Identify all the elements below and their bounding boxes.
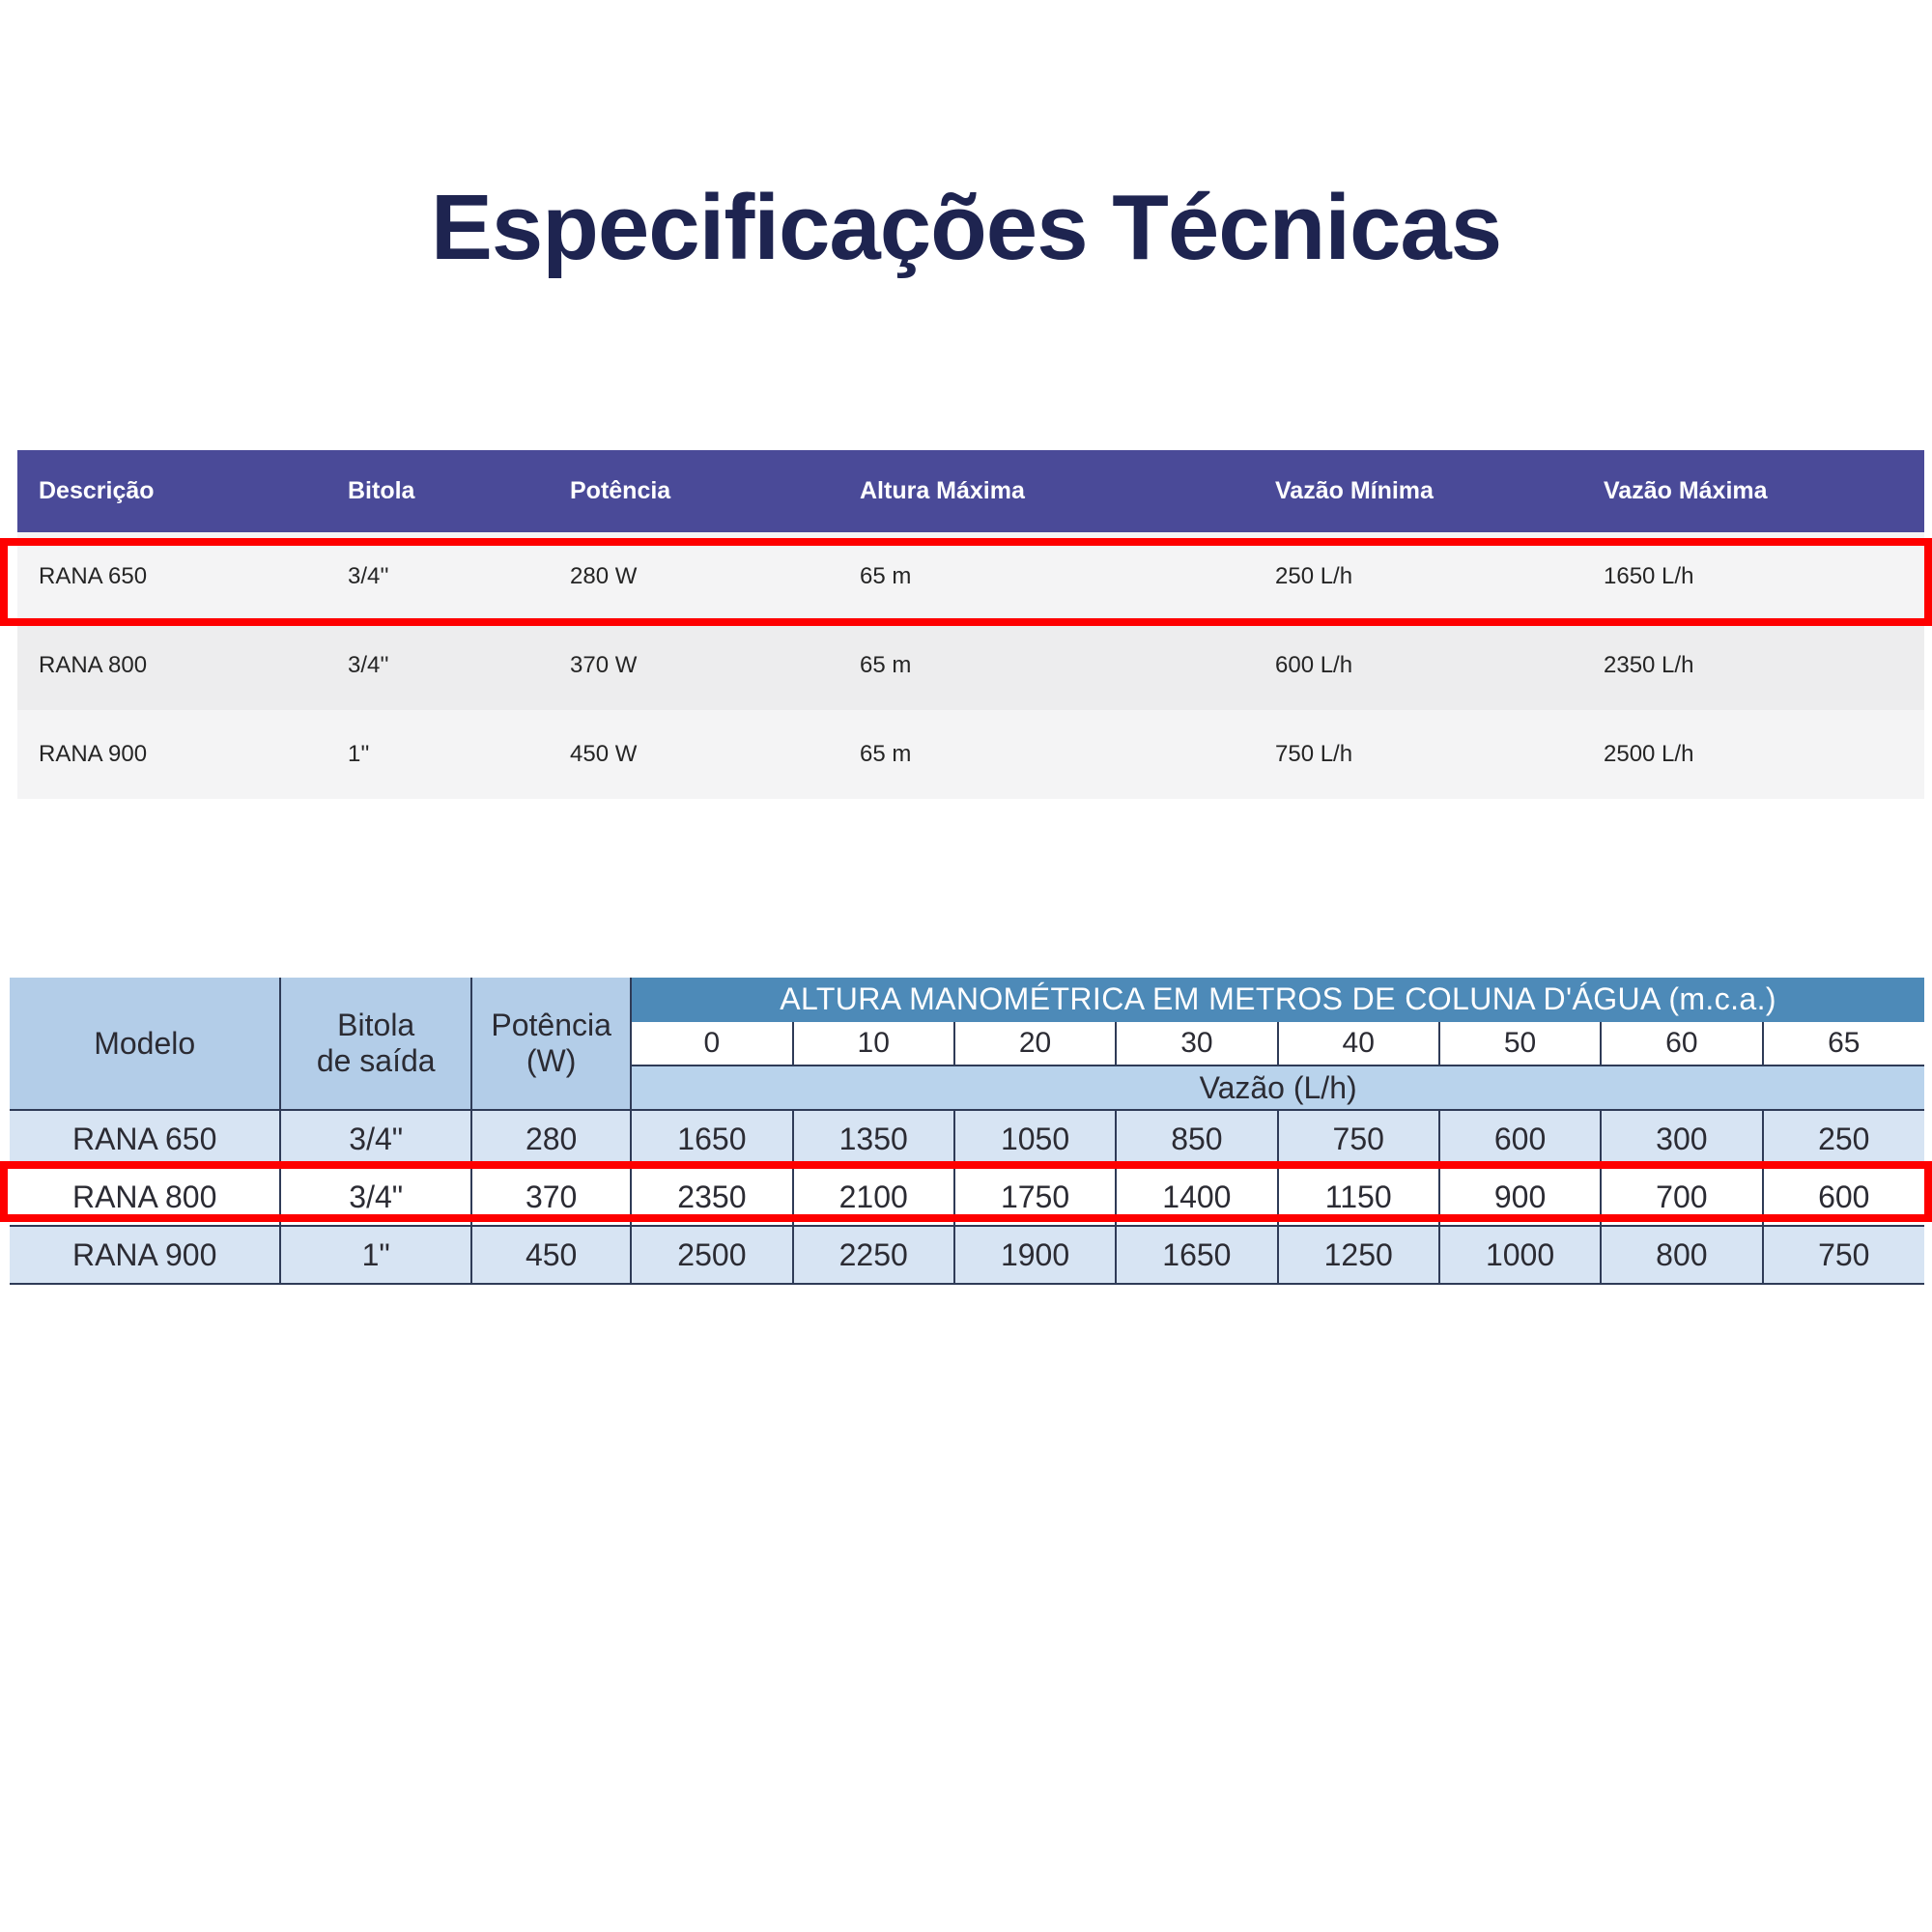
performance-band-row: Modelo Bitola de saída Potência (W) ALTU… — [10, 978, 1924, 1021]
perf-cell-vazao-10: 2250 — [793, 1226, 954, 1284]
perf-cell-vazao-40: 1150 — [1278, 1168, 1439, 1226]
perf-mca-col-60: 60 — [1601, 1021, 1762, 1065]
spec-cell-descricao: RANA 800 — [17, 621, 327, 710]
spec-cell-descricao: RANA 900 — [17, 710, 327, 799]
perf-mca-col-10: 10 — [793, 1021, 954, 1065]
spec-cell-altura-maxima: 65 m — [838, 710, 1254, 799]
perf-cell-vazao-10: 1350 — [793, 1110, 954, 1168]
perf-cell-vazao-65: 750 — [1763, 1226, 1924, 1284]
spec-header-potencia: Potência — [549, 450, 838, 532]
perf-cell-vazao-0: 2500 — [631, 1226, 792, 1284]
page-title: Especificações Técnicas — [0, 180, 1932, 277]
perf-cell-bitola: 1" — [280, 1226, 471, 1284]
spec-table-header-row: Descrição Bitola Potência Altura Máxima … — [17, 450, 1924, 532]
perf-cell-vazao-0: 2350 — [631, 1168, 792, 1226]
spec-cell-vazao-maxima: 2350 L/h — [1582, 621, 1924, 710]
perf-cell-modelo: RANA 650 — [10, 1110, 280, 1168]
spec-table: Descrição Bitola Potência Altura Máxima … — [17, 450, 1924, 799]
perf-mca-col-30: 30 — [1116, 1021, 1277, 1065]
perf-cell-vazao-20: 1050 — [954, 1110, 1116, 1168]
perf-header-modelo: Modelo — [10, 978, 280, 1110]
table-row: RANA 900 1" 450 2500 2250 1900 1650 1250… — [10, 1226, 1924, 1284]
spec-cell-bitola: 3/4'' — [327, 621, 549, 710]
perf-mca-col-20: 20 — [954, 1021, 1116, 1065]
perf-header-bitola: Bitola de saída — [280, 978, 471, 1110]
spec-cell-bitola: 1'' — [327, 710, 549, 799]
table-row: RANA 650 3/4'' 280 W 65 m 250 L/h 1650 L… — [17, 532, 1924, 621]
perf-cell-modelo: RANA 800 — [10, 1168, 280, 1226]
perf-mca-col-0: 0 — [631, 1021, 792, 1065]
perf-mca-col-65: 65 — [1763, 1021, 1924, 1065]
spec-header-descricao: Descrição — [17, 450, 327, 532]
table-row: RANA 800 3/4'' 370 W 65 m 600 L/h 2350 L… — [17, 621, 1924, 710]
perf-header-potencia-line2: (W) — [526, 1043, 577, 1078]
table-row: RANA 650 3/4" 280 1650 1350 1050 850 750… — [10, 1110, 1924, 1168]
perf-band-title: ALTURA MANOMÉTRICA EM METROS DE COLUNA D… — [631, 978, 1924, 1021]
perf-cell-vazao-50: 900 — [1439, 1168, 1601, 1226]
table-row: RANA 800 3/4" 370 2350 2100 1750 1400 11… — [10, 1168, 1924, 1226]
spec-cell-altura-maxima: 65 m — [838, 621, 1254, 710]
perf-cell-potencia: 280 — [471, 1110, 631, 1168]
spec-header-vazao-minima: Vazão Mínima — [1254, 450, 1582, 532]
spec-cell-potencia: 450 W — [549, 710, 838, 799]
table-row: RANA 900 1'' 450 W 65 m 750 L/h 2500 L/h — [17, 710, 1924, 799]
perf-cell-vazao-60: 800 — [1601, 1226, 1762, 1284]
perf-cell-vazao-10: 2100 — [793, 1168, 954, 1226]
spec-cell-vazao-maxima: 2500 L/h — [1582, 710, 1924, 799]
spec-cell-vazao-minima: 600 L/h — [1254, 621, 1582, 710]
performance-table-container: Modelo Bitola de saída Potência (W) ALTU… — [10, 978, 1924, 1285]
spec-table-container: Descrição Bitola Potência Altura Máxima … — [17, 450, 1924, 799]
spec-header-bitola: Bitola — [327, 450, 549, 532]
perf-cell-vazao-30: 1400 — [1116, 1168, 1277, 1226]
perf-cell-modelo: RANA 900 — [10, 1226, 280, 1284]
perf-header-potencia: Potência (W) — [471, 978, 631, 1110]
spec-cell-potencia: 370 W — [549, 621, 838, 710]
perf-cell-vazao-50: 600 — [1439, 1110, 1601, 1168]
perf-cell-vazao-20: 1750 — [954, 1168, 1116, 1226]
spec-cell-altura-maxima: 65 m — [838, 532, 1254, 621]
perf-cell-vazao-30: 1650 — [1116, 1226, 1277, 1284]
spec-cell-potencia: 280 W — [549, 532, 838, 621]
perf-cell-bitola: 3/4" — [280, 1110, 471, 1168]
spec-cell-descricao: RANA 650 — [17, 532, 327, 621]
spec-header-vazao-maxima: Vazão Máxima — [1582, 450, 1924, 532]
perf-cell-bitola: 3/4" — [280, 1168, 471, 1226]
perf-band-subtitle: Vazão (L/h) — [631, 1065, 1924, 1110]
perf-header-potencia-line1: Potência — [491, 1008, 611, 1042]
perf-cell-vazao-0: 1650 — [631, 1110, 792, 1168]
perf-cell-vazao-60: 700 — [1601, 1168, 1762, 1226]
performance-table: Modelo Bitola de saída Potência (W) ALTU… — [10, 978, 1924, 1285]
perf-cell-potencia: 370 — [471, 1168, 631, 1226]
perf-header-bitola-line1: Bitola — [337, 1008, 414, 1042]
perf-mca-col-50: 50 — [1439, 1021, 1601, 1065]
perf-cell-vazao-40: 750 — [1278, 1110, 1439, 1168]
perf-cell-vazao-50: 1000 — [1439, 1226, 1601, 1284]
spec-cell-vazao-minima: 750 L/h — [1254, 710, 1582, 799]
perf-mca-col-40: 40 — [1278, 1021, 1439, 1065]
perf-cell-vazao-65: 600 — [1763, 1168, 1924, 1226]
perf-cell-vazao-20: 1900 — [954, 1226, 1116, 1284]
spec-cell-vazao-maxima: 1650 L/h — [1582, 532, 1924, 621]
perf-cell-vazao-60: 300 — [1601, 1110, 1762, 1168]
spec-cell-vazao-minima: 250 L/h — [1254, 532, 1582, 621]
perf-cell-vazao-65: 250 — [1763, 1110, 1924, 1168]
spec-header-altura-maxima: Altura Máxima — [838, 450, 1254, 532]
spec-cell-bitola: 3/4'' — [327, 532, 549, 621]
perf-cell-vazao-30: 850 — [1116, 1110, 1277, 1168]
perf-header-bitola-line2: de saída — [317, 1043, 436, 1078]
perf-cell-vazao-40: 1250 — [1278, 1226, 1439, 1284]
perf-cell-potencia: 450 — [471, 1226, 631, 1284]
